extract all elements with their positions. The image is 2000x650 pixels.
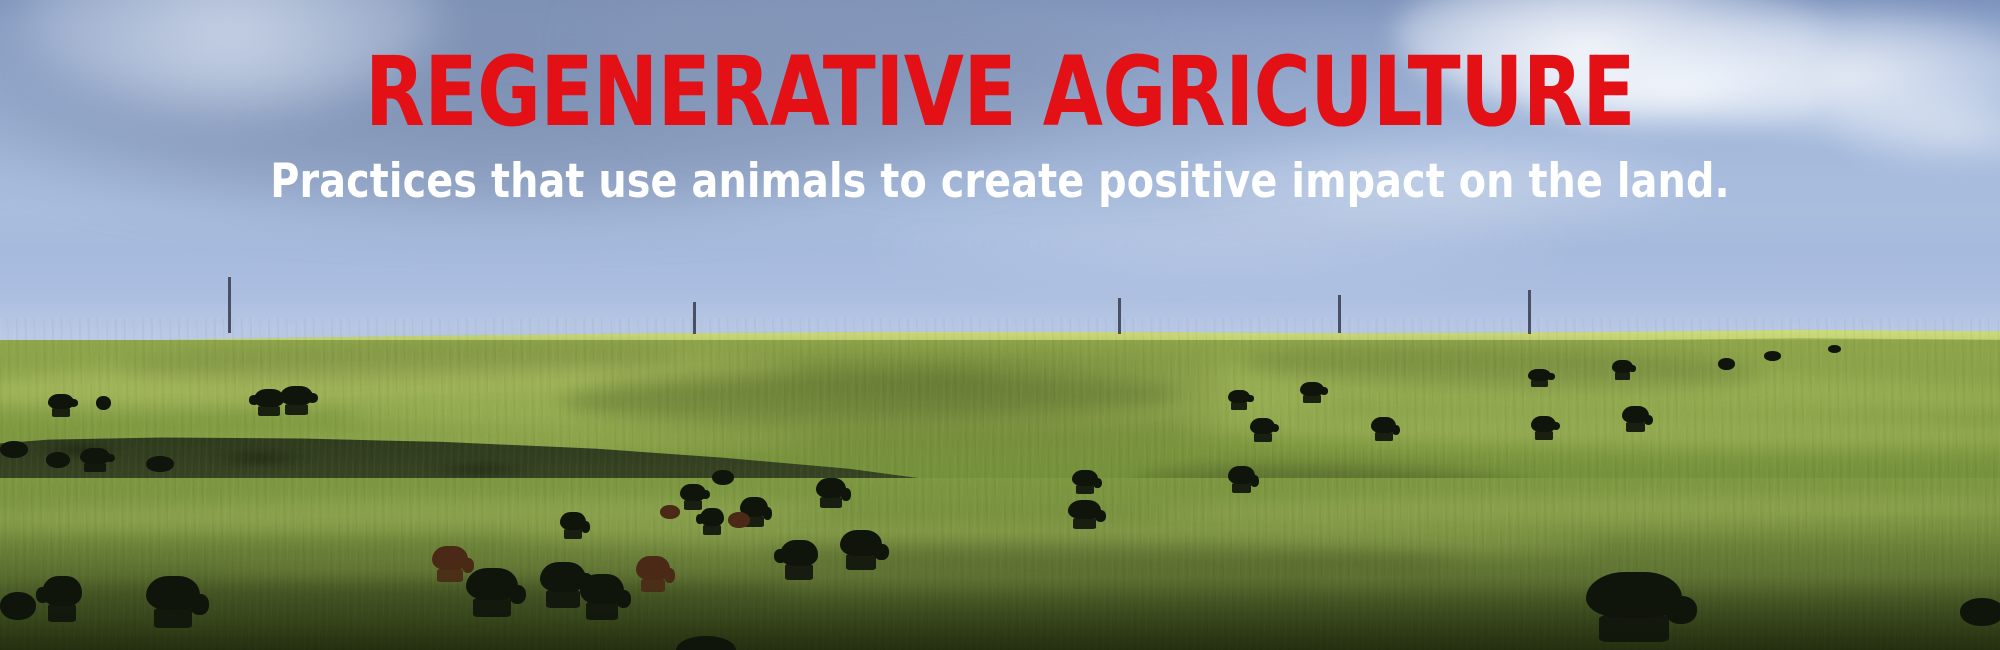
cow [466,568,518,600]
cow [1586,572,1682,618]
utility-pole [1338,295,1341,333]
cow [432,546,468,570]
cow [0,592,36,620]
cow [1228,390,1250,403]
cow [540,562,586,592]
cow [712,470,734,485]
cow [560,512,586,530]
cow [1764,351,1781,361]
cow [660,505,680,519]
cow [146,456,174,472]
cow [1828,345,1841,353]
sky-background [0,0,2000,340]
cow [780,540,818,566]
cow [580,574,624,604]
cow [1250,418,1275,434]
utility-pole [1528,290,1531,334]
cow [1718,358,1735,370]
cow [700,508,724,526]
cow [680,484,706,501]
cow [42,576,82,606]
cow [96,396,111,410]
cow [1072,470,1098,486]
cow [1622,406,1649,423]
utility-pole [693,302,696,334]
cow [80,448,110,464]
cow [280,386,313,405]
foreground-shadow [0,530,2000,650]
cow [1531,416,1556,432]
pasture-landscape [0,318,2000,650]
cow [1371,417,1396,433]
cow [1960,598,2000,626]
cow [1300,382,1324,396]
cow [0,441,28,458]
utility-pole [1118,298,1121,334]
cow [816,478,846,498]
cow [840,530,882,556]
cow [728,512,750,528]
cow [48,394,74,409]
hero-banner: REGENERATIVE AGRICULTURE Practices that … [0,0,2000,650]
cow [1612,360,1633,373]
cow [636,556,670,580]
cow [46,452,70,468]
cow [1068,500,1101,519]
cow [1228,466,1255,484]
white-cloud-3 [1520,55,1820,133]
cow [146,576,200,610]
cow [1528,369,1551,381]
utility-pole [228,277,231,333]
